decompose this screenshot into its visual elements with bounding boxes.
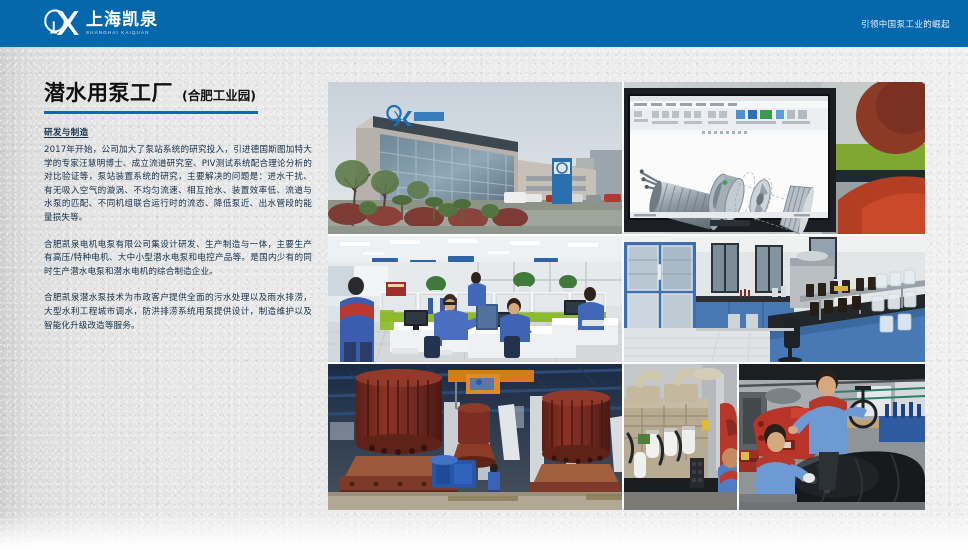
section-label-rd: 研发与制造 <box>44 126 312 138</box>
page-title-suffix: (合肥工业园) <box>182 86 256 106</box>
header-slogan: 引领中国泵工业的崛起 <box>861 0 950 47</box>
paragraph-3: 合肥凯泉潜水泵技术为市政客户提供全面的污水处理以及雨水排涝，大型水利工程城市调水… <box>44 292 312 333</box>
slide-root: 上海凯泉 SHANGHAI KAIQUAN 引领中国泵工业的崛起 潜水用泵工厂 … <box>0 0 968 550</box>
photo-row-bottom-right <box>624 364 925 510</box>
brand-logo[interactable]: 上海凯泉 SHANGHAI KAIQUAN <box>42 9 158 38</box>
slide-bottom-fade <box>0 510 968 550</box>
brand-name-cn: 上海凯泉 <box>86 11 158 29</box>
photo-submersible-pump-assembly-hall-image <box>328 364 622 510</box>
paragraph-2: 合肥凯泉电机电泵有限公司集设计研发、生产制造与一体，主要生产有高压/特种电机、大… <box>44 239 312 280</box>
photo-headquarters-building[interactable] <box>328 82 622 234</box>
photo-cad-design-workstation-image <box>624 82 925 234</box>
photo-collage: Class R&D Team <box>328 82 923 506</box>
page-title-main: 潜水用泵工厂 <box>44 80 173 106</box>
kaiquan-qx-monogram-logo-icon <box>42 9 80 38</box>
photo-technicians-assembling-pump-image <box>739 364 925 510</box>
photo-diesel-engine-image <box>624 364 737 510</box>
page-title: 潜水用泵工厂 (合肥工业园) <box>44 80 312 106</box>
photo-headquarters-building-image <box>328 82 622 234</box>
photo-laboratory[interactable] <box>624 236 925 362</box>
header-inner: 上海凯泉 SHANGHAI KAIQUAN 引领中国泵工业的崛起 <box>0 0 968 47</box>
title-underline-rule <box>44 111 258 114</box>
paragraph-1: 2017年开始，公司加大了泵站系统的研究投入，引进德国斯图加特大学的专家汪慧明博… <box>44 144 312 226</box>
brand-name-en: SHANGHAI KAIQUAN <box>86 29 158 36</box>
photo-laboratory-image <box>624 236 925 362</box>
photo-rd-office[interactable]: Class R&D Team <box>328 236 622 362</box>
photo-cad-design-workstation[interactable] <box>624 82 925 234</box>
photo-technicians-assembling-pump[interactable] <box>739 364 925 510</box>
text-column: 潜水用泵工厂 (合肥工业园) 研发与制造 2017年开始，公司加大了泵站系统的研… <box>44 80 312 333</box>
photo-diesel-engine[interactable] <box>624 364 737 510</box>
header-bar: 上海凯泉 SHANGHAI KAIQUAN 引领中国泵工业的崛起 <box>0 0 968 47</box>
photo-submersible-pump-assembly-hall[interactable] <box>328 364 622 510</box>
photo-rd-office-image <box>328 236 622 362</box>
